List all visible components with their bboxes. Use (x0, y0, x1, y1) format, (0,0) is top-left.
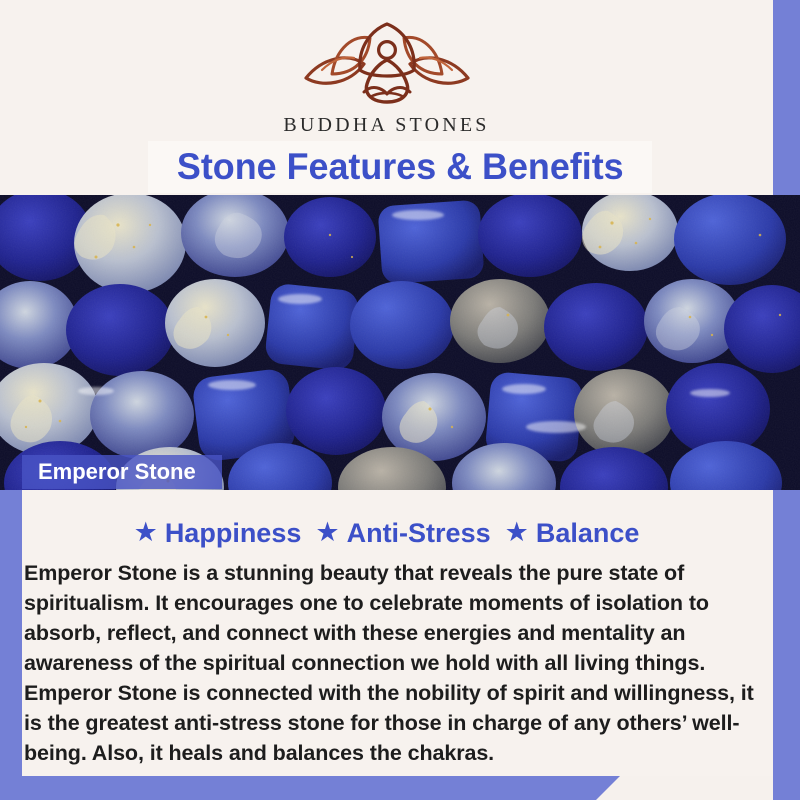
photo-caption: Emperor Stone (38, 459, 196, 485)
brand-name: BUDDHA STONES (283, 114, 489, 137)
description-paragraph-1: Emperor Stone is a stunning beauty that … (24, 558, 764, 678)
benefit-label: Anti-Stress (347, 518, 491, 549)
benefit-item: ★ Balance (505, 518, 640, 549)
border-band-bottom (0, 776, 620, 800)
poster-root: BUDDHA STONES Stone Features & Benefits (0, 0, 800, 800)
benefit-item: ★ Anti-Stress (315, 518, 490, 549)
photo-caption-bar: Emperor Stone (22, 455, 222, 489)
benefits-row: ★ Happiness ★ Anti-Stress ★ Balance (0, 518, 773, 549)
benefit-label: Balance (536, 518, 640, 549)
description-block: Emperor Stone is a stunning beauty that … (24, 558, 764, 768)
page-title: Stone Features & Benefits (177, 146, 624, 188)
border-band-right-lower (773, 470, 800, 800)
benefit-label: Happiness (165, 518, 302, 549)
hero-photo (0, 195, 800, 490)
star-icon: ★ (505, 519, 529, 546)
description-paragraph-2: Emperor Stone is connected with the nobi… (24, 678, 764, 768)
star-icon: ★ (134, 519, 158, 546)
lotus-meditation-icon (292, 22, 482, 108)
star-icon: ★ (315, 519, 339, 546)
title-banner: Stone Features & Benefits (148, 141, 652, 193)
benefit-item: ★ Happiness (134, 518, 302, 549)
